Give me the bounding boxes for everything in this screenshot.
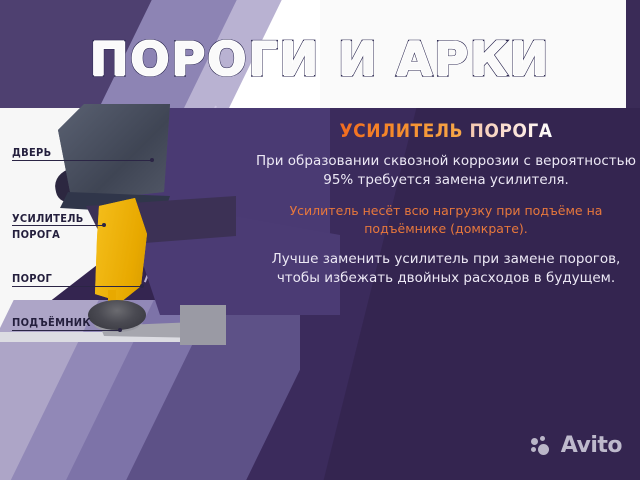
page-title: ПОРОГИ И АРКИ [0,32,640,86]
poster-root: ПОРОГИ И АРКИ ДВЕРЬ УСИЛИТЕЛЬ ПОРОГА [0,0,640,480]
avito-watermark: Avito [531,433,622,458]
content-heading: УСИЛИТЕЛЬ ПОРОГА [252,120,640,142]
leader-dot-jack [118,328,122,332]
avito-logo-icon [531,436,555,456]
leader-dot-sill [140,284,144,288]
paragraph-load: Усилитель несёт всю нагрузку при подъёме… [252,202,640,238]
label-reinforcement-line1: УСИЛИТЕЛЬ [12,212,84,225]
car-door [58,104,170,202]
content-heading-word1: УСИЛИТЕЛЬ [339,120,463,142]
jack-block [180,305,226,345]
label-sill: ПОРОГ [12,272,52,285]
leader-line-door [12,160,152,161]
leader-line-sill [12,286,142,287]
leader-dot-reinforcement [102,223,106,227]
leader-line-reinforcement [12,225,104,226]
paragraph-replace: Лучше заменить усилитель при замене поро… [252,250,640,288]
page-title-text: ПОРОГИ И АРКИ [90,32,550,86]
leader-dot-door [150,158,154,162]
content-heading-word2: ПОРОГА [470,120,553,142]
paragraph-corrosion: При образовании сквозной коррозии с веро… [252,152,640,190]
label-door: ДВЕРЬ [12,146,51,159]
jack-pad [88,300,146,330]
avito-wordmark: Avito [561,433,622,458]
header-banner: ПОРОГИ И АРКИ [0,0,640,110]
label-jack: ПОДЪЁМНИК [12,316,91,329]
label-reinforcement-line2: ПОРОГА [12,228,60,241]
content-text-block: УСИЛИТЕЛЬ ПОРОГА При образовании сквозно… [252,112,640,300]
leader-line-jack [12,330,120,331]
